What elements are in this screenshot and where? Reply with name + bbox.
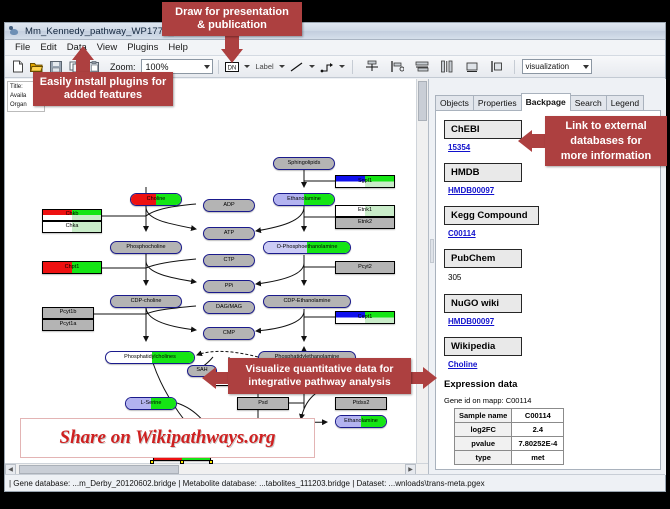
- callout-link-arrow: [518, 130, 532, 152]
- selection-handle-s[interactable]: [180, 460, 184, 464]
- backpage-header-wikipedia: Wikipedia: [444, 337, 522, 356]
- pathvisio-icon: [9, 26, 20, 37]
- node-pcyt1b[interactable]: Pcyt1b: [42, 307, 94, 319]
- gene-id-caption: Gene id on mapp: C00114: [444, 396, 660, 405]
- node-label: Ethanolamine: [287, 197, 321, 203]
- callout-link-line2: databases for: [570, 134, 642, 149]
- selection-handle-sw[interactable]: [150, 460, 154, 464]
- node-label: Cept1: [358, 315, 373, 321]
- cell-value: C00114: [512, 409, 564, 423]
- callout-link-databases: Link to external databases for more info…: [545, 116, 667, 166]
- label-tool-text: Label: [255, 62, 273, 71]
- callout-visualize-arrow-right: [423, 367, 437, 389]
- node-label: Etnk1: [358, 208, 372, 214]
- node-cept1[interactable]: Cept1: [335, 311, 395, 324]
- callout-share-text: Share on Wikipathways.org: [60, 427, 276, 449]
- pathway-canvas[interactable]: Title: Availa Organ: [5, 79, 429, 475]
- backpage-header-hmdb: HMDB: [444, 163, 522, 182]
- node-ppi[interactable]: PPi: [203, 280, 255, 293]
- menu-view[interactable]: View: [92, 40, 122, 55]
- line-dropdown-icon[interactable]: [308, 59, 317, 75]
- cell-key: pvalue: [455, 437, 512, 451]
- node-atp[interactable]: ATP: [203, 227, 255, 240]
- backpage-header-pubchem: PubChem: [444, 249, 522, 268]
- callout-visualize-line1: Visualize quantitative data for: [245, 363, 393, 376]
- backpage-value-pubchem: 305: [448, 273, 660, 282]
- node-ptdss2[interactable]: Ptdss2: [335, 397, 387, 410]
- tab-search[interactable]: Search: [570, 95, 607, 111]
- cell-value: met: [512, 451, 564, 465]
- backpage-link-kegg[interactable]: C00114: [448, 229, 660, 238]
- callout-share: Share on Wikipathways.org: [20, 418, 315, 458]
- node-etnk2[interactable]: Etnk2: [335, 217, 395, 229]
- menubar: File Edit Data View Plugins Help: [5, 40, 665, 56]
- panel-splitter[interactable]: [430, 239, 434, 263]
- node-label: ATP: [224, 231, 234, 237]
- node-chkb[interactable]: Chkb: [42, 209, 102, 221]
- callout-draw-arrow: [221, 49, 243, 63]
- node-ctp[interactable]: CTP: [203, 254, 255, 267]
- callout-visualize-stem-right: [410, 372, 424, 384]
- node-label: CDP-choline: [131, 299, 162, 305]
- node-label: Phosphocholine: [126, 245, 165, 251]
- node-label: Etnk2: [358, 220, 372, 226]
- callout-link-stem: [531, 134, 546, 148]
- menu-help[interactable]: Help: [163, 40, 193, 55]
- tab-backpage[interactable]: Backpage: [521, 93, 571, 111]
- node-label: Psd: [258, 401, 267, 407]
- node-etnk1[interactable]: Etnk1: [335, 205, 395, 217]
- node-label: Chkb: [66, 212, 79, 218]
- node-phosphatidylcholines[interactable]: Phosphatidylcholines: [105, 351, 195, 364]
- connector-dropdown-icon[interactable]: [338, 59, 347, 75]
- svg-text:DN: DN: [228, 65, 237, 71]
- expression-data-table: Sample name C00114 log2FC 2.4 pvalue 7.8…: [454, 408, 564, 465]
- statusbar-text: | Gene database: ...m_Derby_20120602.bri…: [9, 479, 485, 488]
- align-center-icon[interactable]: [364, 58, 381, 75]
- statusbar: | Gene database: ...m_Derby_20120602.bri…: [5, 474, 665, 491]
- line-tool-icon[interactable]: [289, 58, 306, 75]
- node-cmp[interactable]: CMP: [203, 327, 255, 340]
- callout-draw-line2: & publication: [197, 19, 267, 32]
- backpage-header-chebi: ChEBI: [444, 120, 522, 139]
- align-columns-icon[interactable]: [439, 58, 456, 75]
- node-label: Chpt1: [65, 265, 80, 271]
- toolbar-separator-2: [352, 60, 353, 74]
- screenshot-root: Mm_Kennedy_pathway_WP1771_45176.gpml Fil…: [0, 0, 670, 509]
- node-label: Choline: [147, 197, 166, 203]
- callout-visualize: Visualize quantitative data for integrat…: [228, 358, 411, 394]
- node-chka[interactable]: Chka: [42, 221, 102, 233]
- selection-handle-se[interactable]: [209, 460, 213, 464]
- tab-objects[interactable]: Objects: [435, 95, 474, 111]
- zoom-value: 100%: [146, 62, 169, 72]
- backpage-link-nugo[interactable]: HMDB00097: [448, 317, 660, 326]
- node-pcyt1a[interactable]: Pcyt1a: [42, 319, 94, 331]
- node-cdp-ethanolamine[interactable]: CDP-Ethanolamine: [263, 295, 351, 308]
- callout-link-line1: Link to external: [565, 119, 646, 134]
- node-dagmag[interactable]: DAG/MAG: [203, 301, 255, 314]
- node-psd[interactable]: Psd: [237, 397, 289, 410]
- cell-key: type: [455, 451, 512, 465]
- node-ethanolamine-right[interactable]: Ethanolamine: [335, 415, 387, 428]
- callout-visualize-stem-left: [215, 372, 229, 384]
- callout-plugins-line2: added features: [64, 89, 142, 102]
- backpage-link-hmdb[interactable]: HMDB00097: [448, 186, 660, 195]
- toolbar-separator-3: [514, 60, 515, 74]
- callout-draw-line1: Draw for presentation: [175, 6, 289, 19]
- node-label: PPi: [225, 284, 234, 290]
- node-label: Pcyt1a: [60, 322, 77, 328]
- callout-plugins: Easily install plugins for added feature…: [33, 72, 173, 106]
- cell-key: Sample name: [455, 409, 512, 423]
- menu-edit[interactable]: Edit: [35, 40, 61, 55]
- node-label: Sphingolipids: [288, 161, 321, 167]
- new-file-icon[interactable]: [9, 58, 26, 75]
- expression-data-title: Expression data: [444, 379, 660, 390]
- node-label: CMP: [223, 331, 235, 337]
- node-label: L-Serine: [141, 401, 162, 407]
- common-height-icon[interactable]: [489, 58, 506, 75]
- node-o-phosphoethanolamine[interactable]: O-Phosphoethanolamine: [263, 241, 351, 254]
- callout-visualize-arrow-left: [202, 367, 216, 389]
- node-sgpl1[interactable]: Sgpl1: [335, 175, 395, 188]
- node-label: Phosphatidylcholines: [124, 355, 176, 361]
- align-rows-icon[interactable]: [414, 58, 431, 75]
- cell-value: 2.4: [512, 423, 564, 437]
- node-label: Pcyt2: [358, 265, 372, 271]
- label-dropdown-icon[interactable]: [278, 59, 287, 75]
- node-label: Pcyt1b: [60, 310, 77, 316]
- table-row: type met: [455, 451, 564, 465]
- backpage-header-kegg: Kegg Compound: [444, 206, 539, 225]
- node-label: CDP-Ethanolamine: [283, 299, 330, 305]
- visualization-combobox[interactable]: visualization: [522, 59, 592, 74]
- toolbar-separator: [218, 60, 219, 74]
- table-row: pvalue 7.80252E-4: [455, 437, 564, 451]
- node-adp[interactable]: ADP: [203, 199, 255, 212]
- align-left-icon[interactable]: [389, 58, 406, 75]
- callout-visualize-line2: integrative pathway analysis: [248, 376, 390, 389]
- table-row: Sample name C00114: [455, 409, 564, 423]
- menu-file[interactable]: File: [10, 40, 35, 55]
- node-label: DAG/MAG: [216, 305, 242, 311]
- node-label: Sgpl1: [358, 179, 372, 185]
- callout-link-line3: more information: [561, 149, 651, 164]
- node-cdp-choline[interactable]: CDP-choline: [110, 295, 182, 308]
- node-label: CTP: [224, 258, 235, 264]
- node-phosphocholine[interactable]: Phosphocholine: [110, 241, 182, 254]
- chevron-down-icon-2: [583, 65, 589, 69]
- node-label: ADP: [223, 203, 234, 209]
- backpage-link-wikipedia[interactable]: Choline: [448, 360, 660, 369]
- node-label: Chka: [66, 224, 79, 230]
- node-sphingolipids[interactable]: Sphingolipids: [273, 157, 335, 170]
- table-row: log2FC 2.4: [455, 423, 564, 437]
- cell-key: log2FC: [455, 423, 512, 437]
- node-label: Ptdss2: [353, 401, 370, 407]
- common-width-icon[interactable]: [464, 58, 481, 75]
- datanode-dropdown-icon[interactable]: [243, 59, 252, 75]
- visualization-value: visualization: [526, 62, 570, 71]
- window-titlebar: Mm_Kennedy_pathway_WP1771_45176.gpml: [5, 23, 665, 40]
- node-chpt1[interactable]: Chpt1: [42, 261, 102, 274]
- callout-draw-stem: [225, 36, 239, 50]
- callout-draw: Draw for presentation & publication: [162, 2, 302, 36]
- node-l-serine-left[interactable]: L-Serine: [125, 397, 177, 410]
- side-panel-tabs: Objects Properties Backpage Search Legen…: [435, 95, 643, 111]
- backpage-header-nugo: NuGO wiki: [444, 294, 522, 313]
- node-ethanolamine-top[interactable]: Ethanolamine: [273, 193, 335, 206]
- label-tool-icon[interactable]: Label: [254, 58, 276, 75]
- connector-tool-icon[interactable]: [319, 58, 336, 75]
- node-label: Ethanolamine: [344, 419, 378, 425]
- menu-plugins[interactable]: Plugins: [122, 40, 163, 55]
- zoom-label: Zoom:: [110, 62, 136, 72]
- callout-plugins-arrow: [72, 46, 94, 60]
- node-pcyt2[interactable]: Pcyt2: [335, 261, 395, 274]
- tab-properties[interactable]: Properties: [473, 95, 522, 111]
- callout-plugins-stem: [76, 59, 90, 73]
- node-label: O-Phosphoethanolamine: [277, 245, 338, 251]
- node-choline-top[interactable]: Choline: [130, 193, 182, 206]
- cell-value: 7.80252E-4: [512, 437, 564, 451]
- chevron-down-icon: [204, 65, 210, 69]
- callout-plugins-line1: Easily install plugins for: [40, 76, 167, 89]
- tab-legend[interactable]: Legend: [606, 95, 644, 111]
